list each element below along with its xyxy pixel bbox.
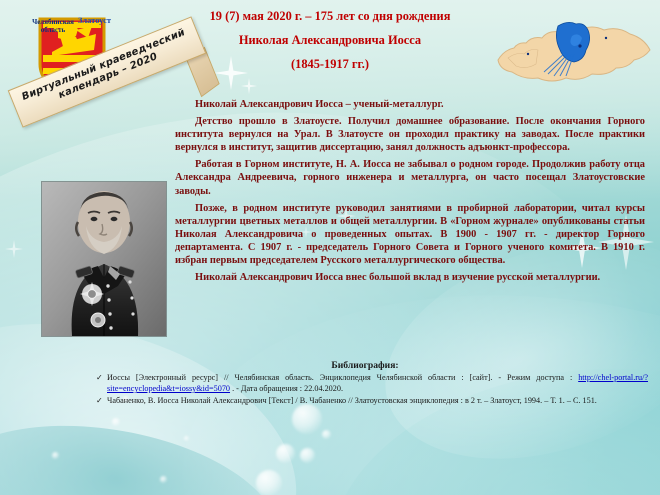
body-paragraph: Николай Александрович Иосса – ученый-мет…: [175, 98, 645, 111]
title-line-1: 19 (7) мая 2020 г. – 175 лет со дня рожд…: [160, 10, 500, 23]
article-body: Николай Александрович Иосса – ученый-мет…: [175, 98, 645, 284]
checkmark-icon: ✓: [96, 395, 103, 406]
bibliography-item-text: Иоссы [Электронный ресурс] // Челябинска…: [107, 373, 578, 382]
bokeh-circle: [276, 444, 295, 463]
bibliography-item: ✓ Чабаненко, В. Иосса Николай Александро…: [96, 395, 648, 406]
title-line-3: (1845-1917 гг.): [160, 58, 500, 71]
russia-map-icon: [488, 2, 656, 94]
bokeh-circle: [184, 436, 189, 441]
body-paragraph: Позже, в родном институте руководил заня…: [175, 202, 645, 267]
body-paragraph: Детство прошло в Златоусте. Получил дома…: [175, 115, 645, 154]
checkmark-icon: ✓: [96, 372, 103, 383]
title-line-2: Николая Александровича Иосса: [160, 34, 500, 47]
bokeh-circle: [256, 470, 282, 495]
portrait-photo: [42, 182, 166, 336]
body-paragraph: Работая в Горном институте, Н. А. Иосса …: [175, 158, 645, 197]
bibliography-item-text-tail: . - Дата обращения : 22.04.2020.: [230, 384, 343, 393]
bokeh-circle: [112, 418, 120, 426]
bibliography-list: ✓ Иоссы [Электронный ресурс] // Челябинс…: [96, 372, 648, 408]
slide-canvas: Виртуальный краеведческий календарь – 20…: [0, 0, 660, 495]
bibliography-heading: Библиография:: [175, 360, 555, 371]
map-city-label: Златоуст: [78, 15, 111, 25]
page-title: 19 (7) мая 2020 г. – 175 лет со дня рожд…: [160, 10, 500, 71]
bokeh-circle: [292, 404, 322, 434]
body-paragraph: Николай Александрович Иосса внес большой…: [175, 271, 645, 284]
bokeh-circle: [52, 452, 59, 459]
bokeh-circle: [160, 476, 167, 483]
bokeh-circle: [300, 448, 315, 463]
bibliography-item-text: Чабаненко, В. Иосса Николай Александрови…: [107, 396, 597, 405]
bokeh-circle: [322, 430, 331, 439]
map-region-label: Челябинская область: [20, 18, 86, 35]
bibliography-item: ✓ Иоссы [Электронный ресурс] // Челябинс…: [96, 372, 648, 394]
